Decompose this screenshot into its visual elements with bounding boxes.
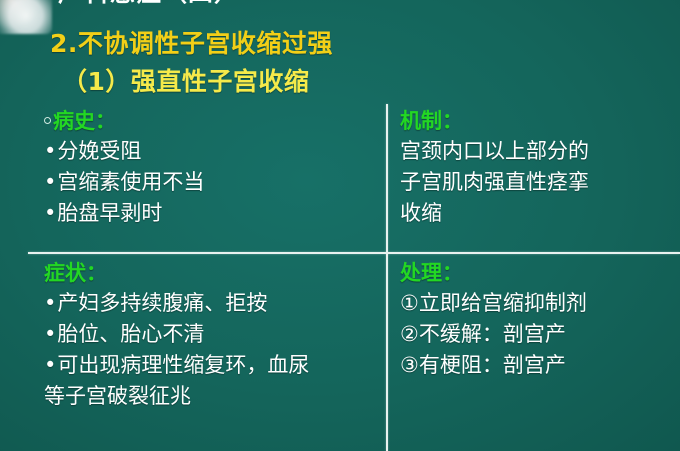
table-vertical-divider: [386, 104, 388, 451]
list-item: ③有梗阻：剖宫产: [400, 350, 672, 381]
list-item: 产妇多持续腹痛、拒按: [44, 288, 380, 319]
cell-history-label: 病史：: [44, 106, 374, 136]
cell-history: 病史： 分娩受阻 宫缩素使用不当 胎盘早剥时: [44, 106, 374, 229]
cell-mechanism-label: 机制：: [400, 106, 672, 136]
cell-symptoms: 症状： 产妇多持续腹痛、拒按 胎位、胎心不清 可出现病理性缩复环，血尿 等子宫破…: [44, 258, 380, 412]
list-item: 宫缩素使用不当: [44, 167, 374, 198]
body-line: 宫颈内口以上部分的: [400, 136, 672, 167]
circle-bullet-icon: [44, 117, 51, 124]
cell-treatment: 处理： ①立即给宫缩抑制剂 ②不缓解：剖宫产 ③有梗阻：剖宫产: [400, 258, 672, 381]
list-item: 可出现病理性缩复环，血尿: [44, 350, 380, 381]
list-item: 胎盘早剥时: [44, 198, 374, 229]
list-item: 分娩受阻: [44, 136, 374, 167]
slide-canvas: 产科急症（四） 2.不协调性子宫收缩过强 （1）强直性子宫收缩 病史： 分娩受阻…: [0, 0, 680, 451]
clipped-slide-title: 产科急症（四）: [58, 0, 358, 6]
body-line: 收缩: [400, 198, 672, 229]
page-title: 2.不协调性子宫收缩过强: [50, 24, 333, 60]
body-line: 子宫肌肉强直性痉挛: [400, 167, 672, 198]
cell-symptoms-label: 症状：: [44, 258, 380, 288]
table-horizontal-divider: [28, 252, 680, 254]
cell-treatment-label: 处理：: [400, 258, 672, 288]
list-item: ①立即给宫缩抑制剂: [400, 288, 672, 319]
list-item: ②不缓解：剖宫产: [400, 319, 672, 350]
page-subtitle: （1）强直性子宫收缩: [62, 62, 309, 98]
list-item: 胎位、胎心不清: [44, 319, 380, 350]
list-item-continuation: 等子宫破裂征兆: [44, 381, 380, 412]
cell-mechanism: 机制： 宫颈内口以上部分的 子宫肌肉强直性痉挛 收缩: [400, 106, 672, 229]
presenter-overlay: [0, 0, 52, 34]
